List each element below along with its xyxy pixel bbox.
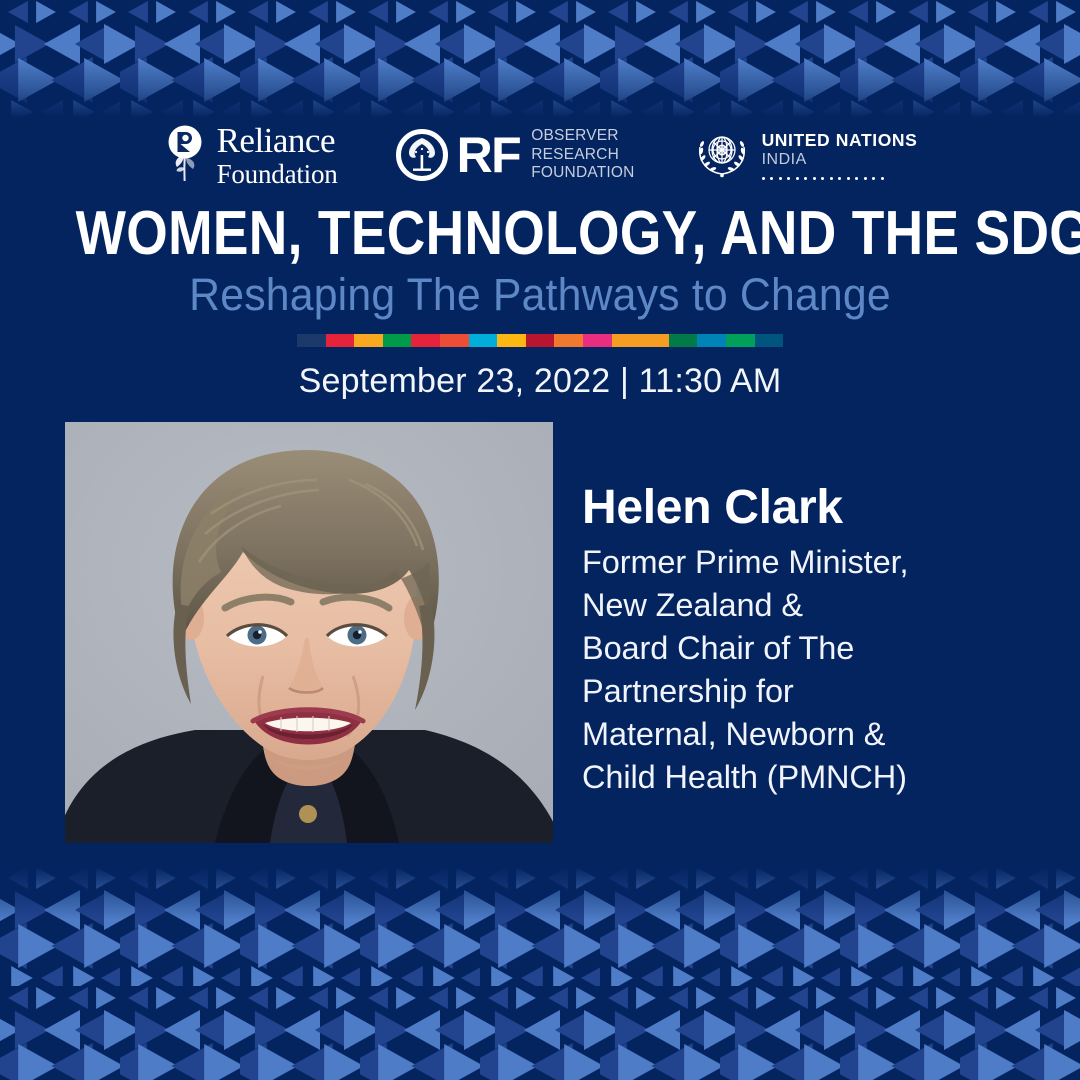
speaker-role: Former Prime Minister, New Zealand & Boa…	[582, 541, 1022, 798]
event-datetime: September 23, 2022 | 11:30 AM	[0, 362, 1080, 401]
sdg-color-swatch-4	[383, 334, 412, 347]
sdg-color-swatch-7	[469, 334, 498, 347]
logo-observer-research-foundation: RF OBSERVER RESEARCH FOUNDATION	[396, 127, 635, 184]
sdg-color-swatch-6	[440, 334, 469, 347]
sdg-color-swatch-5	[411, 334, 440, 347]
un-rule-dot	[779, 177, 782, 180]
un-rule-dot	[796, 177, 799, 180]
orf-abbreviation: RF	[457, 130, 521, 180]
partner-logo-row: Reliance Foundation	[0, 119, 1080, 191]
event-title: WOMEN, TECHNOLOGY, AND THE SDGS	[76, 203, 1005, 265]
un-rule-dot	[762, 177, 765, 180]
triangle-pattern-top	[0, 0, 1080, 118]
un-rule-dot	[864, 177, 867, 180]
event-poster: Reliance Foundation	[0, 0, 1080, 1080]
reliance-flower-r-icon	[163, 124, 207, 187]
event-subtitle: Reshaping The Pathways to Change	[27, 272, 1053, 317]
orf-tree-circle-icon	[396, 129, 448, 181]
un-logo-line2: INDIA	[762, 150, 918, 169]
speaker-name: Helen Clark	[582, 483, 1022, 533]
un-rule-dot	[881, 177, 884, 180]
sdg-color-swatch-1	[297, 334, 326, 347]
sdg-color-swatch-8	[497, 334, 526, 347]
reliance-logo-line1: Reliance	[217, 123, 338, 158]
sdg-color-swatch-9	[526, 334, 555, 347]
un-rule-dot	[855, 177, 858, 180]
sdg-color-swatch-3	[354, 334, 383, 347]
logo-reliance-foundation: Reliance Foundation	[163, 123, 338, 188]
un-rule-dot	[804, 177, 807, 180]
sdg-color-swatch-15	[697, 334, 726, 347]
un-rule-dot	[847, 177, 850, 180]
sdg-color-swatch-10	[554, 334, 583, 347]
un-rule-dot	[813, 177, 816, 180]
un-logo-line1: UNITED NATIONS	[762, 130, 918, 150]
orf-word-2: RESEARCH	[531, 146, 634, 165]
triangle-pattern-bottom	[0, 866, 1080, 1080]
sdg-color-swatch-13	[640, 334, 669, 347]
orf-word-1: OBSERVER	[531, 127, 634, 146]
un-rule-dot	[872, 177, 875, 180]
un-rule-dot	[770, 177, 773, 180]
sdg-color-swatch-17	[755, 334, 784, 347]
un-rule-dot	[838, 177, 841, 180]
un-dotted-rule	[762, 177, 918, 180]
speaker-photo	[65, 422, 553, 843]
sdg-color-swatch-12	[612, 334, 641, 347]
reliance-logo-line2: Foundation	[217, 161, 338, 188]
un-rule-dot	[821, 177, 824, 180]
un-rule-dot	[787, 177, 790, 180]
speaker-details: Helen Clark Former Prime Minister, New Z…	[582, 483, 1022, 799]
sdg-color-swatch-14	[669, 334, 698, 347]
sdg-color-swatch-2	[326, 334, 355, 347]
un-emblem-icon	[693, 125, 751, 186]
un-rule-dot	[830, 177, 833, 180]
sdg-color-bar	[297, 334, 783, 347]
logo-united-nations-india: UNITED NATIONS INDIA	[693, 125, 918, 186]
sdg-color-swatch-16	[726, 334, 755, 347]
orf-word-3: FOUNDATION	[531, 164, 634, 183]
sdg-color-swatch-11	[583, 334, 612, 347]
